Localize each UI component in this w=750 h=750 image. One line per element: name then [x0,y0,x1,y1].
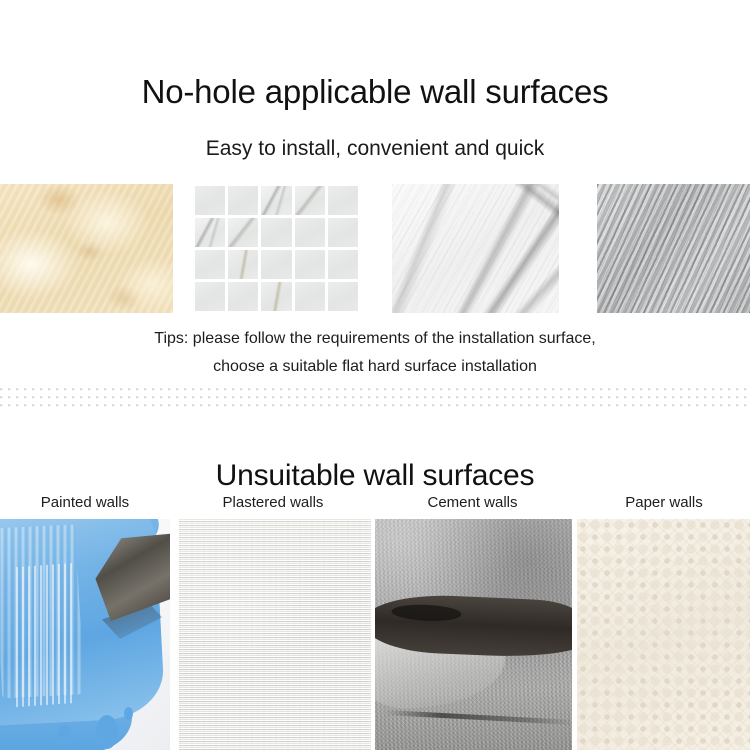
white-mosaic-tile [193,184,360,313]
mosaic-cell [328,282,358,311]
white-marble-tile [392,184,559,313]
plaster-ridge-texture [179,519,371,750]
label-painted-walls: Painted walls [0,492,170,514]
mosaic-cell [228,250,258,279]
label-cement-walls: Cement walls [375,492,570,514]
slate-stone-texture [597,184,750,313]
mosaic-cell [261,250,291,279]
product-infographic-page: No-hole applicable wall surfaces Easy to… [0,0,750,750]
mosaic-cell [228,218,258,247]
paper-wall-photo [577,519,750,750]
mosaic-cell [295,250,325,279]
suitable-tile-row [0,184,750,313]
painted-wall-photo [0,519,170,750]
brush-bristle-streaks [16,563,76,707]
mosaic-cell [328,250,358,279]
beige-travertine-tile [0,184,173,313]
blue-paint-brush-texture [0,519,170,750]
installation-tips-line-2: choose a suitable flat hard surface inst… [0,353,750,381]
suitable-surfaces-subheading: Easy to install, convenient and quick [0,135,750,163]
mosaic-cell [295,282,325,311]
cement-wall-photo [375,519,572,750]
installation-tips-line-1: Tips: please follow the requirements of … [0,325,750,353]
mosaic-texture [193,184,360,313]
grey-slate-tile [597,184,750,313]
plastered-wall-photo [179,519,371,750]
paint-drip [58,725,71,745]
mosaic-cell [261,282,291,311]
unsuitable-labels-row: Painted walls Plastered walls Cement wal… [0,492,750,514]
mosaic-cell [328,186,358,215]
mosaic-cell [228,186,258,215]
unsuitable-surfaces-heading: Unsuitable wall surfaces [0,457,750,495]
mosaic-cell [261,218,291,247]
mosaic-cell [195,186,225,215]
paint-drip [124,707,133,720]
mosaic-cell [261,186,291,215]
mosaic-cell [195,218,225,247]
installation-tips: Tips: please follow the requirements of … [0,325,750,381]
mosaic-cell [228,282,258,311]
cracked-cement-texture [375,519,572,750]
mosaic-cell [295,218,325,247]
mosaic-cell [195,250,225,279]
damask-wallpaper-texture [577,519,750,750]
suitable-surfaces-heading: No-hole applicable wall surfaces [0,72,750,112]
mosaic-cell [195,282,225,311]
cement-crack [385,710,572,725]
mosaic-cell [295,186,325,215]
paint-drip [96,715,118,749]
dotted-divider [0,388,750,412]
label-paper-walls: Paper walls [578,492,750,514]
carrara-marble-texture [392,184,559,313]
mosaic-cell [328,218,358,247]
travertine-texture [0,184,173,313]
unsuitable-photo-row [0,519,750,750]
label-plastered-walls: Plastered walls [178,492,368,514]
